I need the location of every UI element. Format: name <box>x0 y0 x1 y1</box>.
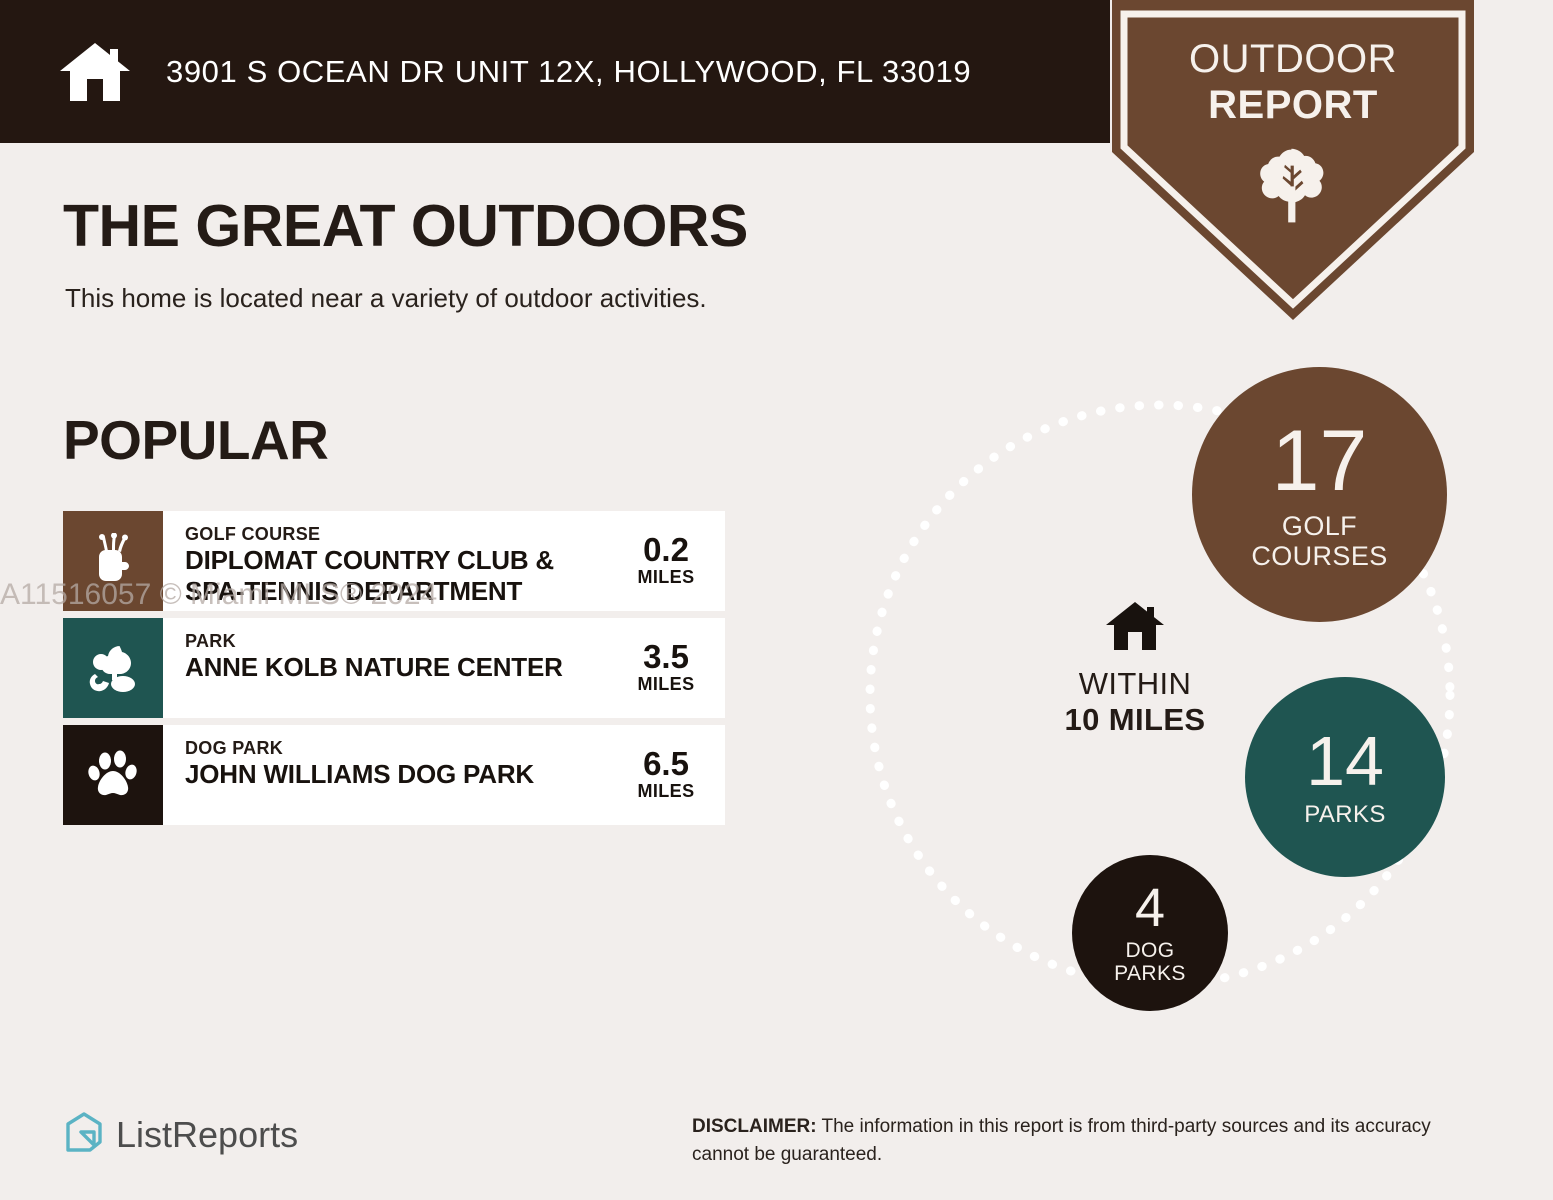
park-tree-icon <box>63 618 163 718</box>
within-label-line2: 10 MILES <box>1000 702 1270 738</box>
home-icon <box>1104 600 1166 652</box>
list-item[interactable]: PARK ANNE KOLB NATURE CENTER 3.5 MILES <box>63 618 725 718</box>
distance-value: 0.2 <box>607 533 725 567</box>
within-label-line1: WITHIN <box>1000 666 1270 702</box>
stat-count: 4 <box>1135 881 1165 935</box>
page-title: THE GREAT OUTDOORS <box>63 192 748 260</box>
listreports-logo[interactable]: ListReports <box>62 1110 298 1159</box>
list-item-name: DIPLOMAT COUNTRY CLUB & SPA-TENNIS DEPAR… <box>185 545 607 607</box>
property-address: 3901 S OCEAN DR UNIT 12X, HOLLYWOOD, FL … <box>166 54 971 90</box>
home-icon <box>58 41 132 103</box>
badge-title-line1: OUTDOOR <box>1189 37 1397 81</box>
stat-label-line2: PARKS <box>1114 963 1186 986</box>
stat-count: 14 <box>1306 726 1384 796</box>
stat-circle-parks: 14 PARKS <box>1245 677 1445 877</box>
list-item-name: JOHN WILLIAMS DOG PARK <box>185 759 607 790</box>
stat-label: PARKS <box>1304 802 1386 828</box>
stat-circle-dog-parks: 4 DOG PARKS <box>1072 855 1228 1011</box>
list-item-category: DOG PARK <box>185 737 607 759</box>
list-item-text: GOLF COURSE DIPLOMAT COUNTRY CLUB & SPA-… <box>163 511 607 611</box>
stat-label-line1: PARKS <box>1304 802 1386 828</box>
stat-label-line1: DOG <box>1114 940 1186 963</box>
list-item-distance: 6.5 MILES <box>607 725 725 825</box>
section-title-popular: POPULAR <box>63 408 328 472</box>
list-item[interactable]: GOLF COURSE DIPLOMAT COUNTRY CLUB & SPA-… <box>63 511 725 611</box>
distance-unit: MILES <box>607 781 725 802</box>
paw-print-icon <box>63 725 163 825</box>
distance-unit: MILES <box>607 674 725 695</box>
listreports-logo-text: ListReports <box>116 1114 298 1156</box>
badge-title: OUTDOOR REPORT <box>1112 36 1474 128</box>
distance-unit: MILES <box>607 567 725 588</box>
header-bar: 3901 S OCEAN DR UNIT 12X, HOLLYWOOD, FL … <box>0 0 1110 143</box>
popular-list: GOLF COURSE DIPLOMAT COUNTRY CLUB & SPA-… <box>63 511 725 832</box>
outdoor-report-page: 3901 S OCEAN DR UNIT 12X, HOLLYWOOD, FL … <box>0 0 1553 1200</box>
list-item-text: DOG PARK JOHN WILLIAMS DOG PARK <box>163 725 607 825</box>
distance-value: 6.5 <box>607 747 725 781</box>
list-item-category: PARK <box>185 630 607 652</box>
stat-label: GOLF COURSES <box>1251 512 1387 570</box>
golf-bag-icon <box>63 511 163 611</box>
stat-circle-golf-courses: 17 GOLF COURSES <box>1192 367 1447 622</box>
list-item-distance: 3.5 MILES <box>607 618 725 718</box>
list-item-category: GOLF COURSE <box>185 523 607 545</box>
list-item[interactable]: DOG PARK JOHN WILLIAMS DOG PARK 6.5 MILE… <box>63 725 725 825</box>
outdoor-report-badge: OUTDOOR REPORT <box>1112 0 1474 320</box>
stat-count: 17 <box>1272 418 1368 504</box>
distance-value: 3.5 <box>607 640 725 674</box>
within-10-miles-diagram: 17 GOLF COURSES 14 PARKS 4 DOG PARKS <box>820 355 1500 1035</box>
page-subtitle: This home is located near a variety of o… <box>65 283 707 314</box>
stat-label-line1: GOLF <box>1251 512 1387 541</box>
badge-title-line2: REPORT <box>1112 82 1474 128</box>
listreports-house-icon <box>62 1110 106 1159</box>
disclaimer-label: DISCLAIMER: <box>692 1116 817 1137</box>
diagram-center-label: WITHIN 10 MILES <box>1000 600 1270 738</box>
stat-label: DOG PARKS <box>1114 940 1186 985</box>
list-item-distance: 0.2 MILES <box>607 511 725 611</box>
list-item-name: ANNE KOLB NATURE CENTER <box>185 652 607 683</box>
list-item-text: PARK ANNE KOLB NATURE CENTER <box>163 618 607 718</box>
disclaimer: DISCLAIMER: The information in this repo… <box>692 1113 1492 1169</box>
stat-label-line2: COURSES <box>1251 542 1387 571</box>
